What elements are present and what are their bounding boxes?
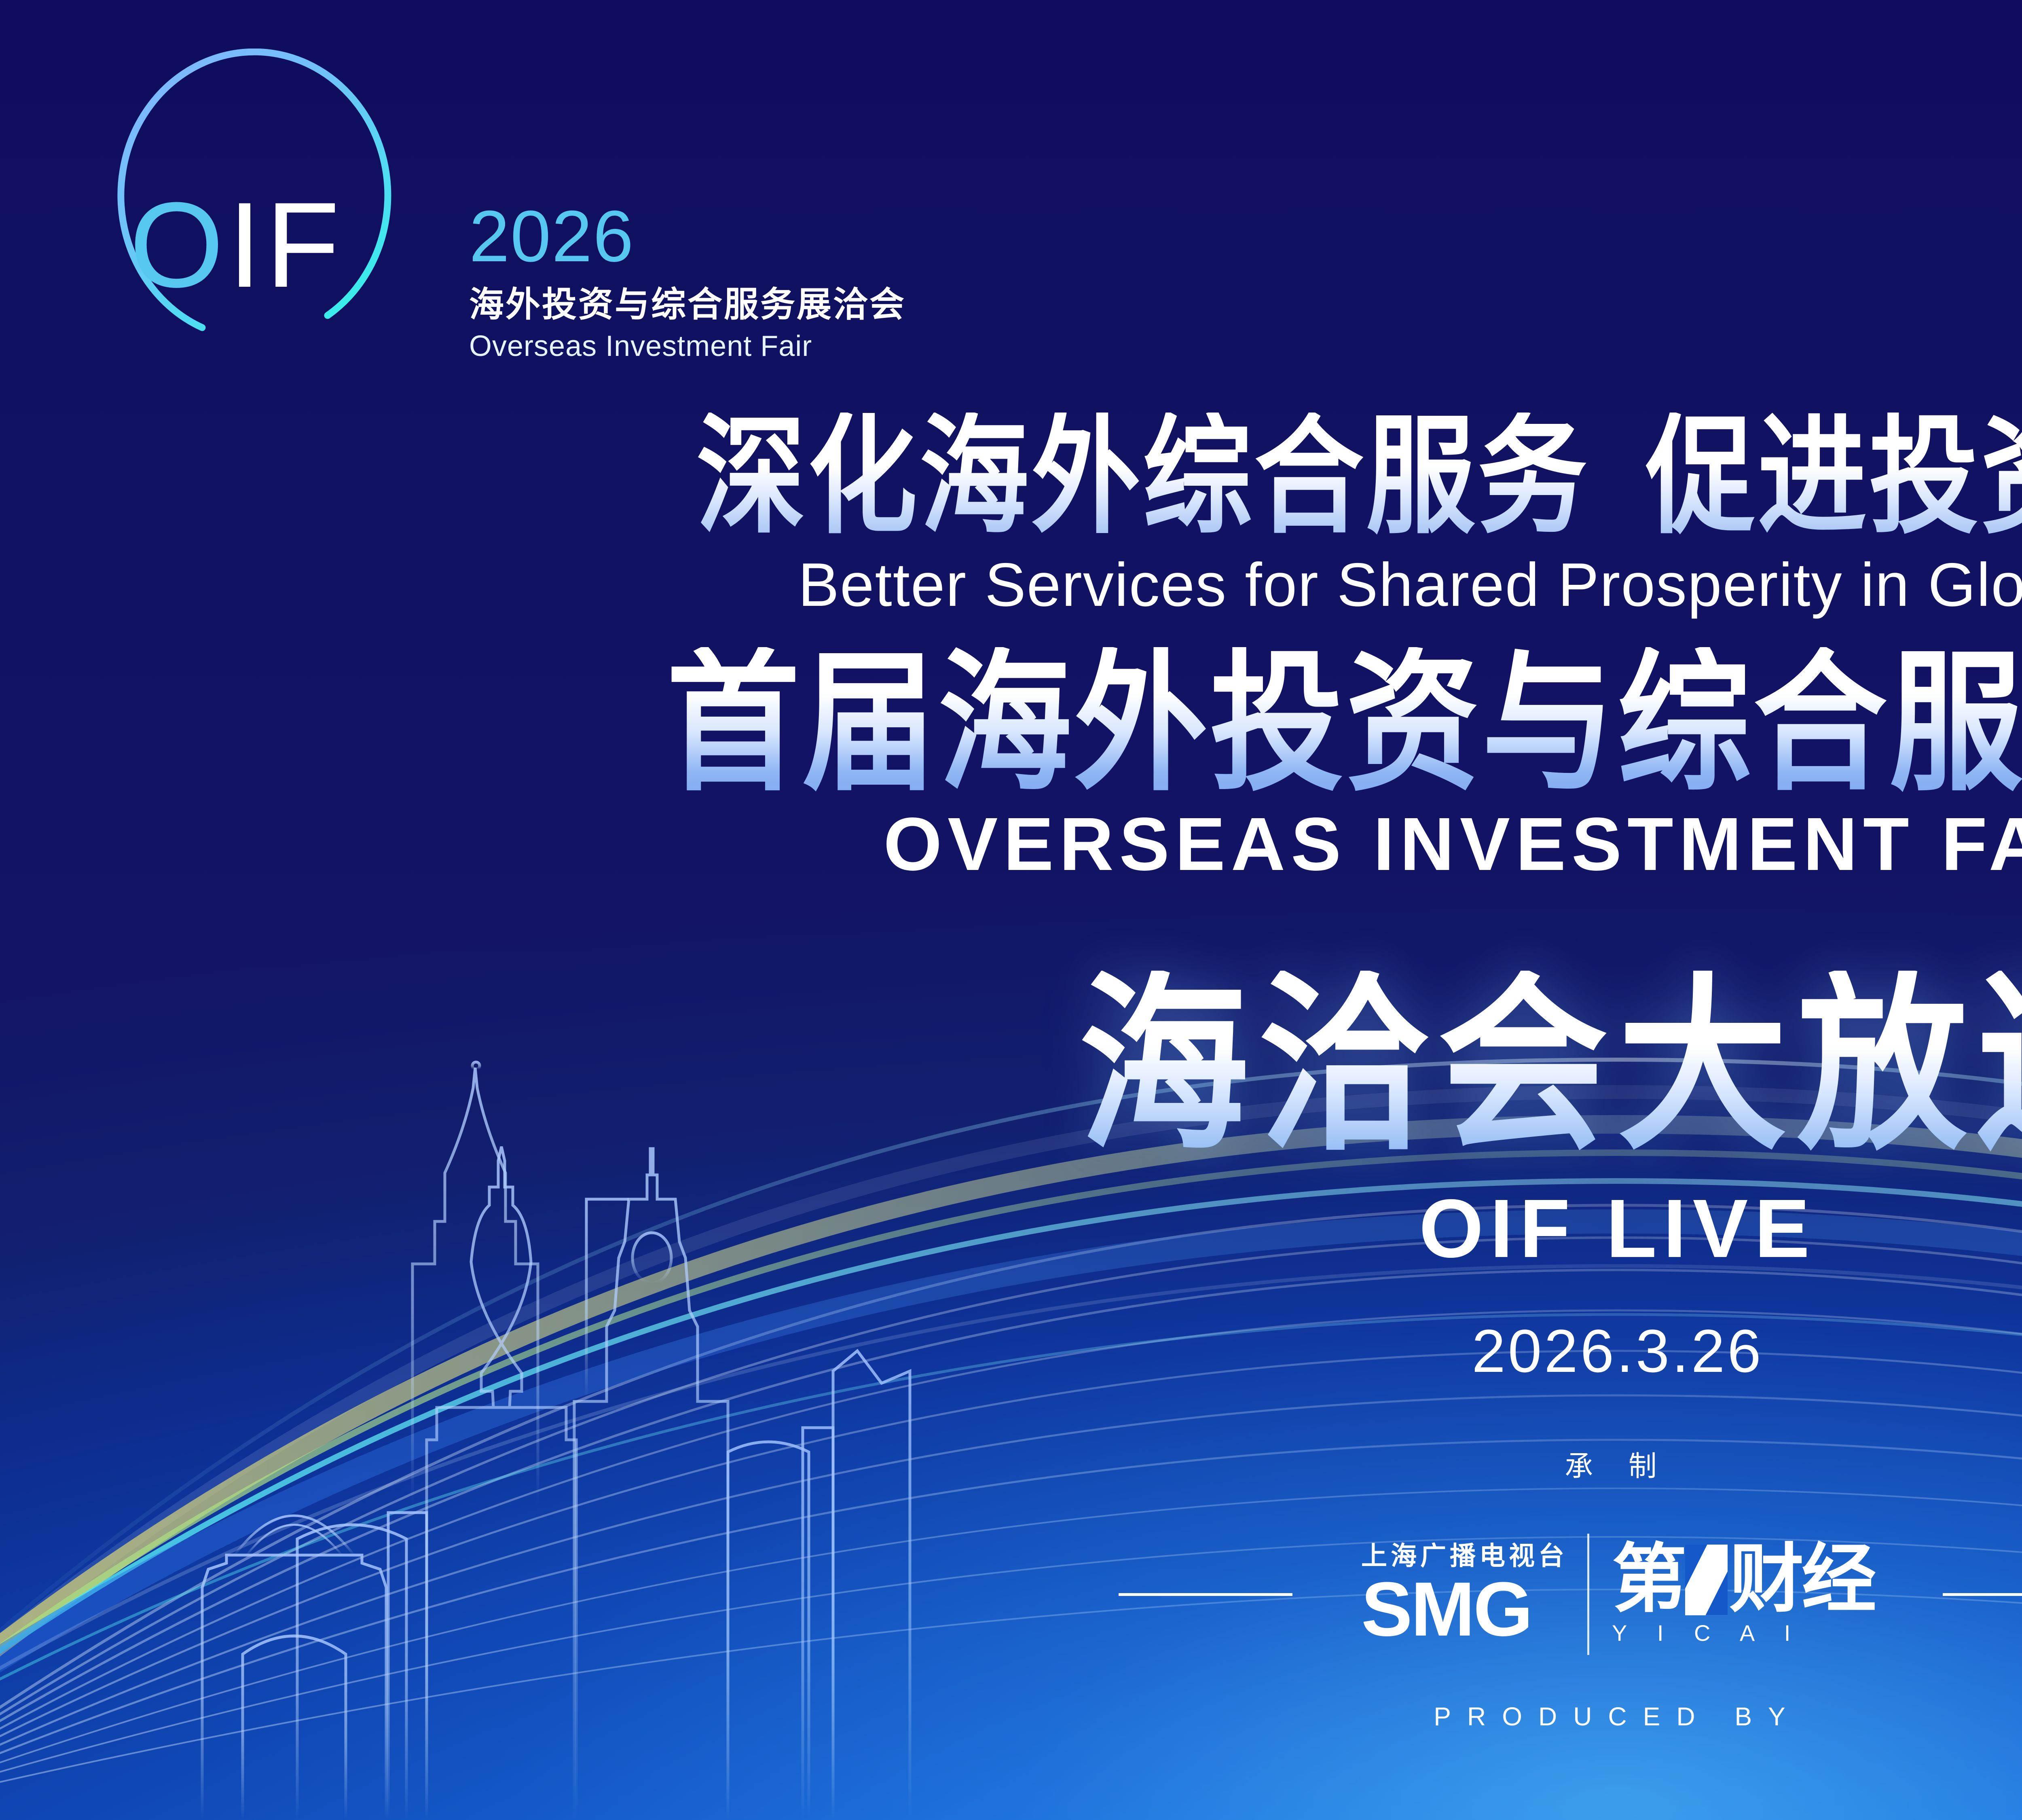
producer-block: 承 制 上海广播电视台 SMG 第财经 Y I C A I PRODUCED B… [0,1452,2022,1729]
logo-name-cn: 海外投资与综合服务展洽会 [469,287,906,322]
hero-title-cn: 首届海外投资与综合服务展洽会 [0,647,2022,799]
yicai-char-caijing: 财经 [1729,1544,1874,1615]
poster-canvas: OIF 2026 海外投资与综合服务展洽会 Overseas Investmen… [0,0,2022,1820]
yicai-char-di: 第 [1612,1544,1684,1615]
yicai-wordmark: 第财经 [1612,1544,1874,1615]
hero-tagline-cn: 深化海外综合服务促进投资互利共赢 [0,413,2022,542]
oif-logo[interactable]: OIF 2026 海外投资与综合服务展洽会 Overseas Investmen… [69,49,918,348]
producer-rule-left [1119,1593,1292,1596]
hero-date: 2026.3.26 [0,1321,2022,1381]
smg-wordmark: SMG [1361,1573,1568,1646]
producer-logos-row: 上海广播电视台 SMG 第财经 Y I C A I [0,1534,2022,1655]
yicai-bolt-icon [1685,1545,1728,1615]
logo-year: 2026 [469,200,634,273]
oif-letters-if: IF [228,177,344,313]
hero-tagline-cn-part1: 深化海外综合服务 [696,405,1589,548]
hero-headline-en: OIF LIVE [0,1187,2022,1270]
yicai-pinyin: Y I C A I [1612,1622,1874,1644]
hero-title-en: OVERSEAS INVESTMENT FAIR 2026 [0,807,2022,882]
oif-wordmark: OIF [129,184,344,305]
hero-tagline-en: Better Services for Shared Prosperity in… [0,554,2022,616]
logo-name-en: Overseas Investment Fair [469,332,812,361]
hero-tagline-cn-part2: 促进投资互利共赢 [1646,405,2022,548]
smg-name-cn: 上海广播电视台 [1361,1543,1568,1569]
hero-headline-cn: 海洽会大放送 [0,971,2022,1161]
yicai-logo[interactable]: 第财经 Y I C A I [1589,1544,1874,1644]
smg-logo[interactable]: 上海广播电视台 SMG [1361,1543,1587,1646]
produced-by-label: PRODUCED BY [0,1704,2022,1729]
producer-label-cn: 承 制 [0,1452,2022,1480]
oif-letter-o: O [129,177,228,313]
producer-rule-right [1943,1593,2022,1596]
producer-brands: 上海广播电视台 SMG 第财经 Y I C A I [1361,1534,1874,1655]
